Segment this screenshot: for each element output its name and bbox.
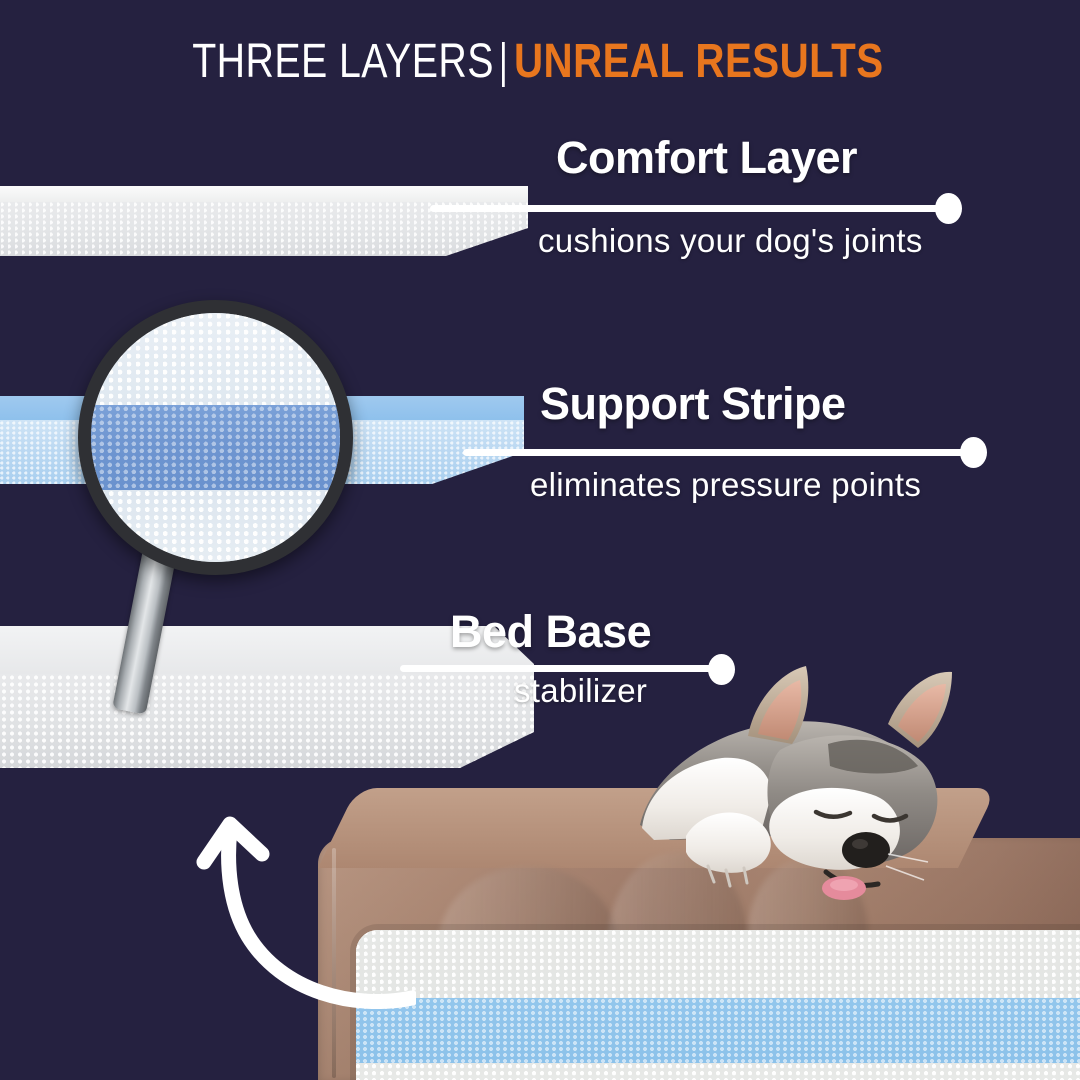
headline-divider: | — [497, 34, 512, 89]
cutaway-comfort-foam — [356, 930, 1080, 998]
slab-top-face — [0, 186, 528, 204]
sleeping-dog-photo — [630, 640, 1080, 930]
magnified-base-foam — [91, 490, 340, 562]
foam-slab-comfort-layer — [0, 186, 528, 256]
callout-subtitle: eliminates pressure points — [530, 466, 921, 504]
dog-nose — [842, 832, 890, 868]
bed-foam-cutaway — [356, 930, 1080, 1080]
cutaway-base-foam — [356, 1063, 1080, 1080]
callout-subtitle: cushions your dog's joints — [538, 222, 923, 260]
magnifier-lens-contents — [91, 313, 340, 562]
dog-head-mask — [828, 740, 918, 774]
magnifying-glass-icon — [78, 300, 353, 770]
magnifier-lens — [78, 300, 353, 575]
callout-leader-dot — [960, 437, 987, 468]
cutaway-support-stripe — [356, 998, 1080, 1063]
callout-subtitle: stabilizer — [514, 672, 647, 710]
page-title: THREE LAYERS|UNREAL RESULTS — [0, 34, 1080, 89]
callout-leader-line — [463, 449, 973, 456]
curved-up-arrow-icon — [186, 796, 416, 1036]
callout-leader-line — [430, 205, 950, 212]
callout-title: Support Stripe — [540, 378, 846, 430]
magnified-support-stripe — [91, 405, 340, 490]
infographic-canvas: THREE LAYERS|UNREAL RESULTS Comfort Laye… — [0, 0, 1080, 1080]
headline-part-two: UNREAL RESULTS — [514, 34, 884, 89]
callout-title: Comfort Layer — [556, 132, 857, 184]
callout-title: Bed Base — [450, 606, 651, 658]
callout-leader-dot — [935, 193, 962, 224]
headline-part-one: THREE LAYERS — [192, 34, 494, 89]
magnified-comfort-foam — [91, 313, 340, 405]
